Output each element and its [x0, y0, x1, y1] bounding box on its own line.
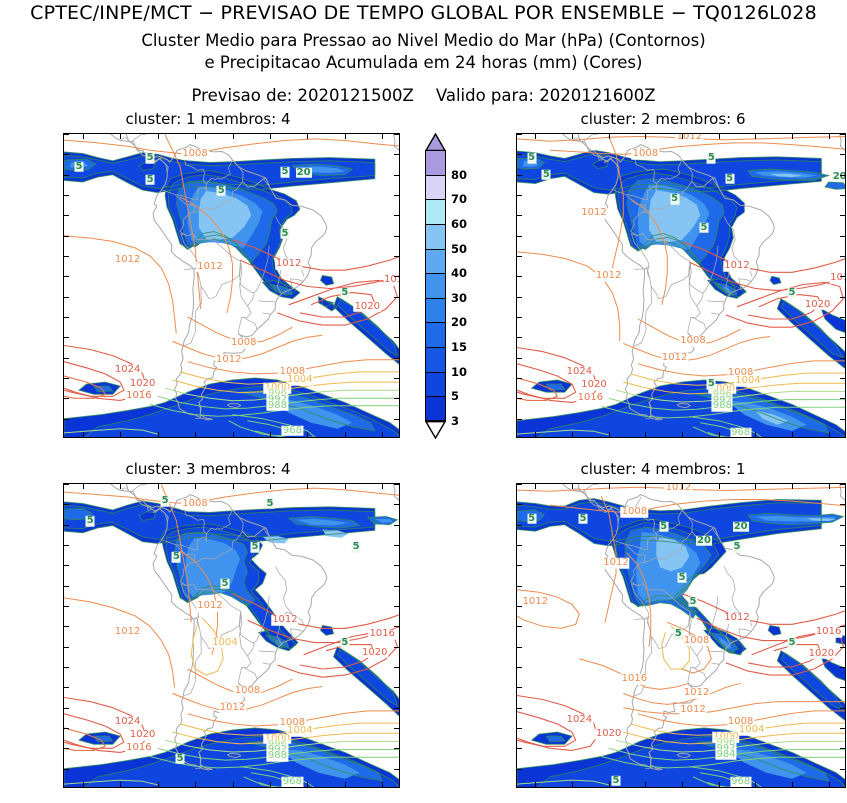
precip-contour-label: 5	[74, 161, 83, 172]
isobar-label: 1008	[683, 635, 710, 646]
x-axis-tick	[719, 782, 720, 787]
y-axis-tick	[64, 134, 69, 135]
isobar-label: 1004	[211, 637, 238, 648]
x-axis-tick	[645, 134, 646, 139]
x-axis-tick	[755, 134, 756, 139]
x-axis-tick	[572, 134, 573, 139]
y-axis-tick	[64, 545, 69, 546]
x-axis-tick	[83, 782, 84, 787]
y-axis-tick	[64, 769, 69, 770]
y-axis-tick	[394, 748, 399, 749]
precip-contour-label: 5	[659, 521, 668, 532]
page-title: CPTEC/INPE/MCT − PREVISAO DE TEMPO GLOBA…	[0, 2, 847, 24]
x-axis-tick	[792, 484, 793, 489]
isobar-label: 1012	[665, 483, 692, 493]
y-axis-tick	[394, 525, 399, 526]
precip-contour-label: 5	[788, 287, 797, 298]
y-axis-tick	[517, 626, 522, 627]
y-axis-tick	[840, 215, 845, 216]
precip-contour-label: 5	[707, 379, 716, 390]
map-plot-area: 1012100810121012100810161012101210161020…	[516, 483, 846, 788]
y-axis-tick	[64, 606, 69, 607]
x-axis-tick	[535, 432, 536, 437]
y-axis-tick	[517, 134, 522, 135]
x-axis-tick	[307, 432, 308, 437]
isobar-label: 1020	[129, 730, 156, 741]
y-axis-tick	[840, 337, 845, 338]
y-axis-tick	[840, 647, 845, 648]
isobar-label: 1008	[234, 686, 261, 697]
x-axis-tick	[645, 782, 646, 787]
precip-contour-label: 5	[146, 153, 155, 164]
precip-contour-label: 5	[689, 597, 698, 608]
y-axis-tick	[840, 134, 845, 135]
isobar-label: 968	[730, 428, 751, 438]
colorbar-tick-label: 50	[451, 242, 467, 256]
isobar-label: 1008	[181, 499, 208, 510]
y-axis-tick	[394, 606, 399, 607]
y-axis-tick	[394, 398, 399, 399]
y-axis-tick	[64, 215, 69, 216]
isobar-label: 1016	[621, 674, 648, 685]
y-axis-tick	[517, 358, 522, 359]
x-axis-tick	[233, 484, 234, 489]
y-axis-tick	[64, 525, 69, 526]
x-axis-tick	[535, 134, 536, 139]
x-axis-tick	[270, 432, 271, 437]
colorbar-tick-label: 3	[451, 414, 459, 428]
x-axis-tick	[120, 432, 121, 437]
y-axis-tick	[394, 728, 399, 729]
precip-contour-label: 5	[674, 629, 683, 640]
y-axis-tick	[517, 378, 522, 379]
y-axis-tick	[64, 337, 69, 338]
map-plot-area: 1012100810121012100810121012101102010241…	[516, 133, 846, 438]
y-axis-tick	[394, 484, 399, 485]
isobar-label: 1016	[815, 627, 842, 638]
y-axis-tick	[517, 748, 522, 749]
x-axis-tick	[158, 432, 159, 437]
isobar-label: 1012	[683, 688, 710, 699]
x-axis-tick	[195, 484, 196, 489]
isobar-label: 1016	[577, 392, 604, 403]
x-axis-tick	[83, 134, 84, 139]
y-axis-tick	[517, 317, 522, 318]
x-axis-tick	[829, 432, 830, 437]
precip-contour-label: 5	[725, 173, 734, 184]
y-axis-tick	[394, 545, 399, 546]
y-axis-tick	[840, 398, 845, 399]
isobar-label: 988	[267, 400, 288, 411]
y-axis-tick	[517, 667, 522, 668]
x-axis-tick	[829, 134, 830, 139]
y-axis-tick	[64, 276, 69, 277]
isobar-label: 1012	[275, 259, 302, 270]
x-axis-tick	[682, 432, 683, 437]
colorbar-under-arrow	[425, 421, 446, 439]
isobar-label: 968	[730, 777, 751, 788]
isobar-label: 988	[712, 401, 733, 412]
y-axis-tick	[64, 419, 69, 420]
y-axis-tick	[517, 687, 522, 688]
x-axis-tick	[158, 484, 159, 489]
y-axis-tick	[517, 586, 522, 587]
precipitation-colorbar: 35101520304050607080	[425, 133, 446, 438]
isobar-label: 1016	[125, 391, 152, 402]
x-axis-tick	[719, 134, 720, 139]
colorbar-tick-label: 70	[451, 192, 467, 206]
y-axis-tick	[394, 647, 399, 648]
y-axis-tick	[394, 154, 399, 155]
y-axis-tick	[64, 175, 69, 176]
x-axis-tick	[382, 432, 383, 437]
isobar-label: 1012	[522, 597, 549, 608]
y-axis-tick	[517, 419, 522, 420]
precip-contour-label: 20	[832, 171, 846, 182]
isobar-label: 101	[829, 273, 846, 284]
forecast-from-label: Previsao de: 2020121500Z	[191, 86, 413, 105]
x-axis-tick	[120, 484, 121, 489]
y-axis-tick	[394, 175, 399, 176]
isobar-label: 1020	[361, 648, 388, 659]
colorbar-segment	[425, 372, 446, 397]
y-axis-tick	[840, 525, 845, 526]
y-axis-tick	[517, 154, 522, 155]
y-axis-tick	[394, 687, 399, 688]
colorbar-segment	[425, 199, 446, 224]
y-axis-tick	[64, 708, 69, 709]
y-axis-tick	[840, 565, 845, 566]
y-axis-tick	[840, 626, 845, 627]
precip-contour-label: 20	[296, 167, 312, 178]
isobar-label: 1008	[230, 338, 257, 349]
x-axis-tick	[682, 134, 683, 139]
isobar-label: 1016	[125, 742, 152, 753]
y-axis-tick	[517, 647, 522, 648]
y-axis-tick	[64, 748, 69, 749]
y-axis-tick	[517, 398, 522, 399]
precip-contour-label: 5	[172, 552, 181, 563]
x-axis-tick	[382, 134, 383, 139]
y-axis-tick	[517, 175, 522, 176]
precip-contour-label: 5	[340, 637, 349, 648]
x-axis-tick	[572, 484, 573, 489]
colorbar-segment	[425, 322, 446, 347]
isobar-label: 968	[282, 777, 303, 788]
x-axis-tick	[645, 432, 646, 437]
x-axis-tick	[158, 782, 159, 787]
x-axis-tick	[755, 782, 756, 787]
precip-contour-label: 5	[788, 637, 797, 648]
x-axis-tick	[792, 432, 793, 437]
colorbar-segment	[425, 347, 446, 372]
y-axis-tick	[840, 154, 845, 155]
y-axis-tick	[517, 525, 522, 526]
y-axis-tick	[840, 195, 845, 196]
x-axis-tick	[609, 134, 610, 139]
x-axis-tick	[382, 782, 383, 787]
isobar-label: 1004	[734, 376, 761, 387]
y-axis-tick	[840, 504, 845, 505]
y-axis-tick	[840, 769, 845, 770]
precip-contour-label: 5	[280, 228, 289, 239]
y-axis-tick	[517, 504, 522, 505]
colorbar-segment	[425, 396, 446, 421]
x-axis-tick	[120, 134, 121, 139]
y-axis-tick	[64, 154, 69, 155]
precip-contour-label: 5	[612, 776, 621, 787]
y-axis-tick	[394, 667, 399, 668]
valid-for-label: Valido para: 2020121600Z	[436, 86, 656, 105]
y-axis-tick	[517, 256, 522, 257]
y-axis-tick	[64, 647, 69, 648]
colorbar-segment	[425, 249, 446, 274]
x-axis-tick	[270, 134, 271, 139]
x-axis-tick	[645, 484, 646, 489]
precip-contour-label: 5	[250, 542, 259, 553]
y-axis-tick	[840, 606, 845, 607]
map-panel-cluster-3: 1008101210121004100810121012101610201024…	[63, 483, 400, 788]
precip-contour-label: 5	[678, 572, 687, 583]
y-axis-tick	[394, 256, 399, 257]
x-axis-tick	[829, 782, 830, 787]
map-plot-area: 1008101210121004100810121012101610201024…	[63, 483, 400, 788]
isobar-label: 984	[715, 750, 736, 761]
y-axis-tick	[517, 276, 522, 277]
isobar-label: 1012	[114, 627, 141, 638]
colorbar-tick-label: 10	[451, 365, 467, 379]
colorbar-tick-label: 60	[451, 217, 467, 231]
y-axis-tick	[394, 708, 399, 709]
map-panel-cluster-1: 1008101210121008101210121011020102410201…	[63, 133, 400, 438]
x-axis-tick	[307, 134, 308, 139]
map-graphics	[517, 134, 846, 438]
y-axis-tick	[517, 769, 522, 770]
map-graphics	[64, 134, 400, 438]
y-axis-tick	[394, 626, 399, 627]
precip-contour-label: 5	[579, 513, 588, 524]
x-axis-tick	[682, 782, 683, 787]
map-panel-cluster-4: 1012100810121012100810161012101210161020…	[516, 483, 846, 788]
isobar-label: 1012	[676, 133, 703, 143]
x-axis-tick	[158, 134, 159, 139]
isobar-label: 1012	[679, 704, 706, 715]
y-axis-tick	[394, 378, 399, 379]
isobar-label: 1012	[219, 702, 246, 713]
y-axis-tick	[840, 317, 845, 318]
subtitle-line-1: Cluster Medio para Pressao ao Nivel Medi…	[0, 31, 847, 50]
y-axis-tick	[394, 317, 399, 318]
colorbar-tick-label: 5	[451, 389, 459, 403]
y-axis-tick	[394, 769, 399, 770]
x-axis-tick	[609, 484, 610, 489]
y-axis-tick	[64, 504, 69, 505]
precip-contour-label: 5	[527, 153, 536, 164]
x-axis-tick	[345, 432, 346, 437]
y-axis-tick	[517, 606, 522, 607]
precip-contour-label: 5	[670, 194, 679, 205]
precip-contour-label: 20	[696, 536, 712, 547]
y-axis-tick	[64, 398, 69, 399]
isobar-label: 1024	[566, 715, 593, 726]
y-axis-tick	[64, 256, 69, 257]
panel-title-cluster-4: cluster: 4 membros: 1	[478, 460, 847, 478]
isobar-label: 1012	[595, 271, 622, 282]
y-axis-tick	[840, 728, 845, 729]
precip-contour-label: 5	[733, 542, 742, 553]
x-axis-tick	[535, 782, 536, 787]
y-axis-tick	[64, 195, 69, 196]
isobar-label: 1020	[580, 380, 607, 391]
x-axis-tick	[535, 484, 536, 489]
y-axis-tick	[394, 586, 399, 587]
y-axis-tick	[840, 687, 845, 688]
colorbar-segment	[425, 175, 446, 200]
y-axis-tick	[64, 586, 69, 587]
y-axis-tick	[394, 236, 399, 237]
precip-contour-label: 5	[146, 174, 155, 185]
precip-contour-label: 5	[176, 753, 185, 764]
y-axis-tick	[840, 297, 845, 298]
y-axis-tick	[840, 545, 845, 546]
forecast-figure: CPTEC/INPE/MCT − PREVISAO DE TEMPO GLOBA…	[0, 0, 847, 803]
y-axis-tick	[517, 215, 522, 216]
isobar-label: 1008	[632, 149, 659, 160]
isobar-label: 1020	[804, 300, 831, 311]
colorbar-segment	[425, 150, 446, 175]
isobar-label: 1024	[566, 367, 593, 378]
y-axis-tick	[64, 236, 69, 237]
x-axis-tick	[755, 484, 756, 489]
y-axis-tick	[64, 687, 69, 688]
x-axis-tick	[382, 484, 383, 489]
x-axis-tick	[270, 782, 271, 787]
y-axis-tick	[394, 358, 399, 359]
y-axis-tick	[517, 195, 522, 196]
y-axis-tick	[840, 236, 845, 237]
precip-contour-label: 5	[542, 169, 551, 180]
isobar-label: 1012	[602, 558, 629, 569]
isobar-label: 1012	[215, 354, 242, 365]
y-axis-tick	[517, 484, 522, 485]
y-axis-tick	[64, 317, 69, 318]
x-axis-tick	[609, 782, 610, 787]
y-axis-tick	[64, 565, 69, 566]
y-axis-tick	[394, 504, 399, 505]
x-axis-tick	[233, 782, 234, 787]
y-axis-tick	[64, 626, 69, 627]
x-axis-tick	[233, 134, 234, 139]
x-axis-tick	[195, 432, 196, 437]
precip-contour-label: 5	[265, 498, 274, 509]
x-axis-tick	[792, 134, 793, 139]
x-axis-tick	[792, 782, 793, 787]
y-axis-tick	[517, 236, 522, 237]
isobar-label: 1008	[181, 149, 208, 160]
precip-contour-label: 20	[733, 521, 749, 532]
isobar-label: 1012	[271, 615, 298, 626]
colorbar-segment	[425, 273, 446, 298]
isobar-label: 1020	[595, 729, 622, 740]
isobar-label: 1012	[723, 613, 750, 624]
isobar-label: 1020	[129, 379, 156, 390]
map-panel-cluster-2: 1012100810121012100810121012101102010241…	[516, 133, 846, 438]
x-axis-tick	[195, 134, 196, 139]
colorbar-segment	[425, 224, 446, 249]
x-axis-tick	[83, 432, 84, 437]
x-axis-tick	[572, 782, 573, 787]
precip-contour-label: 5	[217, 186, 226, 197]
isobar-label: 1012	[723, 261, 750, 272]
x-axis-tick	[233, 432, 234, 437]
isobar-label: 1024	[114, 717, 141, 728]
isobar-label: 1012	[114, 255, 141, 266]
subtitle-line-2: e Precipitacao Acumulada em 24 horas (mm…	[0, 53, 847, 72]
y-axis-tick	[394, 195, 399, 196]
x-axis-tick	[307, 782, 308, 787]
precip-contour-label: 5	[161, 496, 170, 507]
isobar-label: 1004	[738, 725, 765, 736]
y-axis-tick	[394, 134, 399, 135]
isobar-label: 1008	[621, 507, 648, 518]
colorbar-segment	[425, 298, 446, 323]
y-axis-tick	[394, 276, 399, 277]
y-axis-tick	[840, 276, 845, 277]
y-axis-tick	[517, 565, 522, 566]
isobar-label: 988	[267, 751, 288, 762]
y-axis-tick	[840, 748, 845, 749]
isobar-label: 1020	[808, 649, 835, 660]
precip-contour-label: 5	[352, 542, 361, 553]
x-axis-tick	[120, 782, 121, 787]
y-axis-tick	[394, 215, 399, 216]
isobar-label: 1012	[580, 208, 607, 219]
precip-contour-label: 5	[340, 287, 349, 298]
isobar-label: 968	[282, 426, 303, 437]
precip-contour-label: 5	[700, 222, 709, 233]
precip-contour-label: 5	[86, 516, 95, 527]
y-axis-tick	[517, 728, 522, 729]
y-axis-tick	[394, 565, 399, 566]
panel-title-cluster-2: cluster: 2 membros: 6	[478, 110, 847, 128]
precip-contour-label: 5	[280, 167, 289, 178]
precip-contour-label: 5	[221, 578, 230, 589]
x-axis-tick	[829, 484, 830, 489]
y-axis-tick	[394, 419, 399, 420]
panel-title-cluster-3: cluster: 3 membros: 4	[23, 460, 393, 478]
isobar-label: 1012	[196, 601, 223, 612]
y-axis-tick	[840, 484, 845, 485]
y-axis-tick	[64, 728, 69, 729]
colorbar-tick-label: 20	[451, 315, 467, 329]
precip-contour-label: 5	[527, 513, 536, 524]
x-axis-tick	[682, 484, 683, 489]
y-axis-tick	[840, 586, 845, 587]
x-axis-tick	[195, 782, 196, 787]
y-axis-tick	[517, 297, 522, 298]
isobar-label: 1012	[196, 261, 223, 272]
x-axis-tick	[609, 432, 610, 437]
y-axis-tick	[517, 545, 522, 546]
colorbar-tick-label: 15	[451, 340, 467, 354]
y-axis-tick	[394, 297, 399, 298]
x-axis-tick	[270, 484, 271, 489]
x-axis-tick	[345, 484, 346, 489]
y-axis-tick	[64, 484, 69, 485]
colorbar-over-arrow	[425, 133, 446, 151]
colorbar-tick-label: 30	[451, 291, 467, 305]
y-axis-tick	[840, 378, 845, 379]
